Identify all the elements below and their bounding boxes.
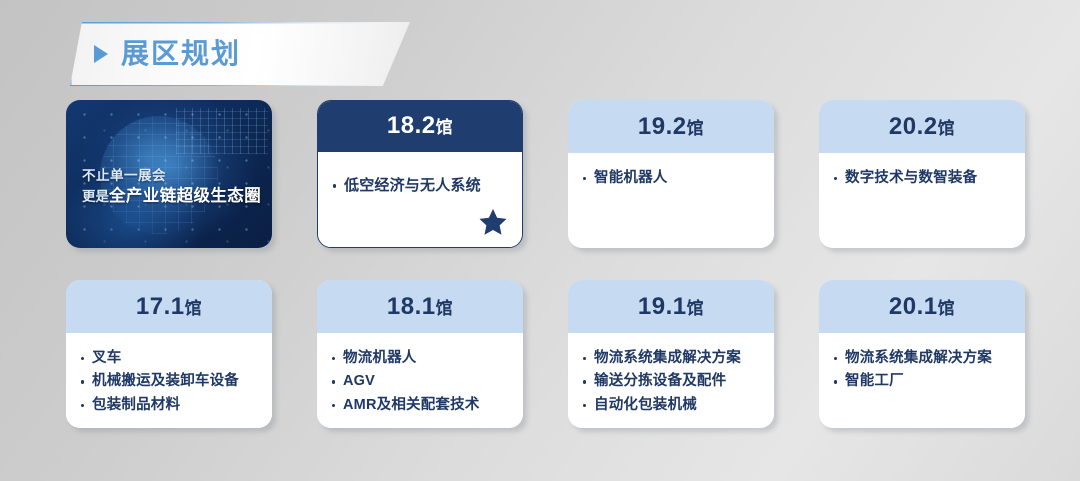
hall-card-body: 物流机器人 AGV AMR及相关配套技术 (317, 333, 523, 428)
hall-topic-list: 物流系统集成解决方案 输送分拣设备及配件 自动化包装机械 (581, 347, 762, 417)
list-item: 智能机器人 (581, 167, 762, 190)
list-item: 叉车 (79, 347, 260, 370)
hero-line-1: 不止单一展会 (82, 166, 272, 186)
hall-card-18-2[interactable]: 18.2馆 低空经济与无人系统 (317, 100, 523, 248)
page-title: 展区规划 (121, 40, 241, 68)
hall-card-header: 20.2馆 (819, 100, 1025, 153)
hall-number: 17.1馆 (136, 295, 202, 319)
list-item: 数字技术与数智装备 (832, 167, 1013, 190)
hall-card-header: 17.1馆 (66, 280, 272, 333)
list-item: AMR及相关配套技术 (330, 394, 511, 417)
hall-card-header: 18.1馆 (317, 280, 523, 333)
hall-number: 19.2馆 (638, 115, 704, 139)
tech-grid-graphic (176, 108, 268, 154)
hall-card-18-1[interactable]: 18.1馆 物流机器人 AGV AMR及相关配套技术 (317, 280, 523, 428)
list-item: 物流机器人 (330, 347, 511, 370)
hall-card-body: 叉车 机械搬运及装卸车设备 包装制品材料 (66, 333, 272, 428)
hall-number: 18.1馆 (387, 295, 453, 319)
hall-number: 19.1馆 (638, 295, 704, 319)
hall-card-header: 19.1馆 (568, 280, 774, 333)
hall-number: 20.2馆 (889, 115, 955, 139)
list-item: 低空经济与无人系统 (331, 174, 510, 198)
hall-number: 18.2馆 (387, 114, 453, 138)
hall-card-19-2[interactable]: 19.2馆 智能机器人 (568, 100, 774, 248)
hall-card-20-2[interactable]: 20.2馆 数字技术与数智装备 (819, 100, 1025, 248)
hall-card-body: 物流系统集成解决方案 智能工厂 (819, 333, 1025, 428)
hall-number: 20.1馆 (889, 295, 955, 319)
list-item: 物流系统集成解决方案 (581, 347, 762, 370)
star-icon (478, 207, 508, 237)
hall-card-19-1[interactable]: 19.1馆 物流系统集成解决方案 输送分拣设备及配件 自动化包装机械 (568, 280, 774, 428)
hall-card-body: 物流系统集成解决方案 输送分拣设备及配件 自动化包装机械 (568, 333, 774, 428)
hero-text-block: 不止单一展会 更是全产业链超级生态圈 (82, 166, 272, 208)
hero-line-2: 更是全产业链超级生态圈 (82, 185, 272, 208)
list-item: AGV (330, 370, 511, 393)
hero-line-2-emphasis: 全产业链超级生态圈 (109, 187, 261, 205)
hall-card-body: 智能机器人 (568, 153, 774, 248)
banner-content: 展区规划 (70, 22, 410, 86)
hero-line-2-prefix: 更是 (82, 189, 109, 204)
hall-card-body: 数字技术与数智装备 (819, 153, 1025, 248)
hall-topic-list: 叉车 机械搬运及装卸车设备 包装制品材料 (79, 347, 260, 417)
hall-card-header: 18.2馆 (317, 100, 523, 152)
list-item: 智能工厂 (832, 370, 1013, 393)
list-item: 输送分拣设备及配件 (581, 370, 762, 393)
hall-card-17-1[interactable]: 17.1馆 叉车 机械搬运及装卸车设备 包装制品材料 (66, 280, 272, 428)
exhibition-hall-grid: 不止单一展会 更是全产业链超级生态圈 18.2馆 低空经济与无人系统 19.2馆… (66, 100, 1026, 428)
list-item: 机械搬运及装卸车设备 (79, 370, 260, 393)
hall-card-header: 20.1馆 (819, 280, 1025, 333)
hall-card-body: 低空经济与无人系统 (318, 152, 522, 247)
hall-topic-list: 物流系统集成解决方案 智能工厂 (832, 347, 1013, 394)
play-triangle-icon (94, 45, 108, 63)
hall-topic-list: 数字技术与数智装备 (832, 167, 1013, 190)
hall-card-20-1[interactable]: 20.1馆 物流系统集成解决方案 智能工厂 (819, 280, 1025, 428)
list-item: 包装制品材料 (79, 394, 260, 417)
hall-topic-list: 物流机器人 AGV AMR及相关配套技术 (330, 347, 511, 417)
list-item: 自动化包装机械 (581, 394, 762, 417)
list-item: 物流系统集成解决方案 (832, 347, 1013, 370)
section-header-banner: 展区规划 (70, 22, 410, 86)
hall-card-header: 19.2馆 (568, 100, 774, 153)
hall-topic-list: 低空经济与无人系统 (331, 174, 510, 198)
hall-topic-list: 智能机器人 (581, 167, 762, 190)
hero-promo-card: 不止单一展会 更是全产业链超级生态圈 (66, 100, 272, 248)
